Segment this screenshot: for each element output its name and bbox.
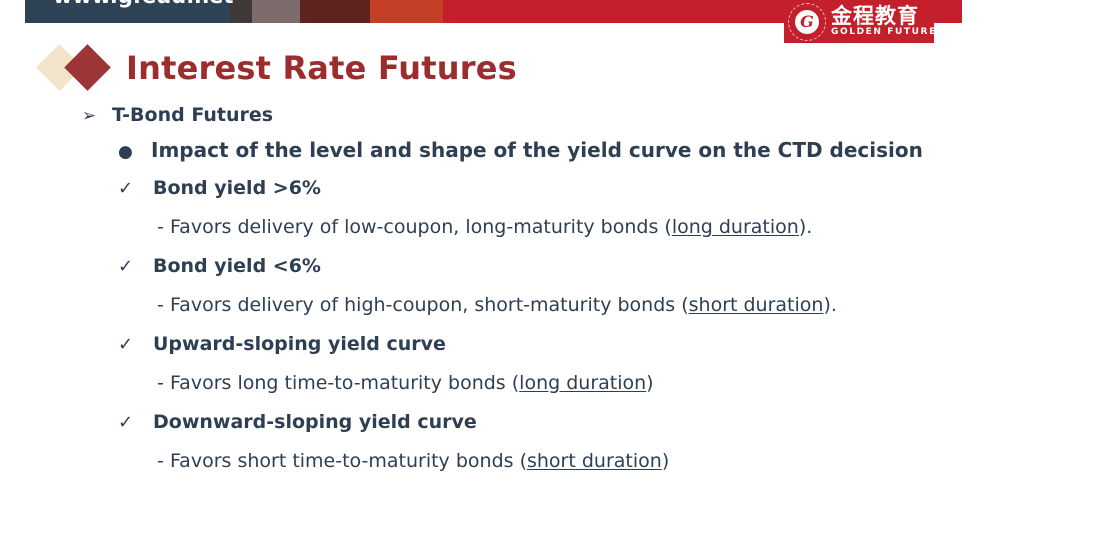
sub-text-emphasis: short duration: [527, 450, 662, 472]
list-item-label: Favors long time-to-maturity bonds (long…: [170, 372, 654, 394]
list-item-label: Favors delivery of low-coupon, long-matu…: [170, 216, 812, 238]
logo-text-block: 金程教育 GOLDEN FUTURE: [831, 5, 934, 38]
list-item: ✓ Downward-sloping yield curve: [0, 411, 1100, 450]
list-item: ✓ Upward-sloping yield curve: [0, 333, 1100, 372]
list-item-label: Favors short time-to-maturity bonds (sho…: [170, 450, 669, 472]
banner-segment-gray: [252, 0, 300, 23]
diamond-red-icon: [64, 44, 111, 91]
list-item-label: Favors delivery of high-coupon, short-ma…: [170, 294, 837, 316]
check-bullet-icon: ✓: [118, 412, 153, 433]
list-item: - Favors short time-to-maturity bonds (s…: [0, 450, 1100, 489]
disc-bullet-icon: ●: [118, 142, 151, 162]
list-item: ✓ Bond yield <6%: [0, 255, 1100, 294]
sub-text-before: Favors delivery of high-coupon, short-ma…: [170, 294, 689, 316]
check-bullet-icon: ✓: [118, 256, 153, 277]
slide-body: ➢ T-Bond Futures ● Impact of the level a…: [0, 104, 1100, 489]
sub-text-after: ).: [823, 294, 836, 316]
banner-segment-orange: [370, 0, 443, 23]
sub-text-after: ): [662, 450, 669, 472]
logo-seal-icon: G: [788, 3, 826, 41]
slide-title-row: Interest Rate Futures: [40, 42, 517, 94]
dash-bullet-icon: -: [157, 450, 170, 472]
list-item-label: Upward-sloping yield curve: [153, 333, 446, 355]
seal-monogram-letter: G: [800, 14, 814, 30]
title-diamond-icons: [40, 44, 126, 92]
logo-name-english: GOLDEN FUTURE: [831, 27, 934, 38]
list-item-label: Bond yield <6%: [153, 255, 321, 277]
list-item: ✓ Bond yield >6%: [0, 177, 1100, 216]
list-item: - Favors long time-to-maturity bonds (lo…: [0, 372, 1100, 411]
logo-name-chinese: 金程教育: [831, 5, 934, 27]
sub-text-before: Favors long time-to-maturity bonds (: [170, 372, 519, 394]
arrow-bullet-icon: ➢: [82, 106, 112, 126]
check-bullet-icon: ✓: [118, 334, 153, 355]
sub-text-after: ): [646, 372, 653, 394]
check-bullet-icon: ✓: [118, 178, 153, 199]
page-title: Interest Rate Futures: [126, 52, 517, 84]
dash-bullet-icon: -: [157, 294, 170, 316]
list-item: - Favors delivery of low-coupon, long-ma…: [0, 216, 1100, 255]
banner-segment-navy: www.gfedu.net: [25, 0, 230, 23]
dash-bullet-icon: -: [157, 372, 170, 394]
list-item: ● Impact of the level and shape of the y…: [0, 138, 1100, 177]
brand-logo: G 金程教育 GOLDEN FUTURE: [784, 0, 934, 43]
list-item: ➢ T-Bond Futures: [0, 104, 1100, 138]
sub-text-emphasis: long duration: [672, 216, 799, 238]
dash-bullet-icon: -: [157, 216, 170, 238]
list-item-label: T-Bond Futures: [112, 104, 273, 126]
list-item-label: Impact of the level and shape of the yie…: [151, 138, 923, 162]
seal-inner-circle: G: [795, 10, 819, 34]
sub-text-before: Favors delivery of low-coupon, long-matu…: [170, 216, 672, 238]
site-url-text: www.gfedu.net: [53, 0, 233, 23]
sub-text-emphasis: long duration: [519, 372, 646, 394]
list-item-label: Bond yield >6%: [153, 177, 321, 199]
sub-text-emphasis: short duration: [689, 294, 824, 316]
list-item: - Favors delivery of high-coupon, short-…: [0, 294, 1100, 333]
list-item-label: Downward-sloping yield curve: [153, 411, 477, 433]
sub-text-before: Favors short time-to-maturity bonds (: [170, 450, 527, 472]
slide-canvas: www.gfedu.net G 金程教育 GOLDEN FUTURE Inter…: [0, 0, 1100, 547]
sub-text-after: ).: [799, 216, 812, 238]
banner-segment-maroon: [300, 0, 370, 23]
